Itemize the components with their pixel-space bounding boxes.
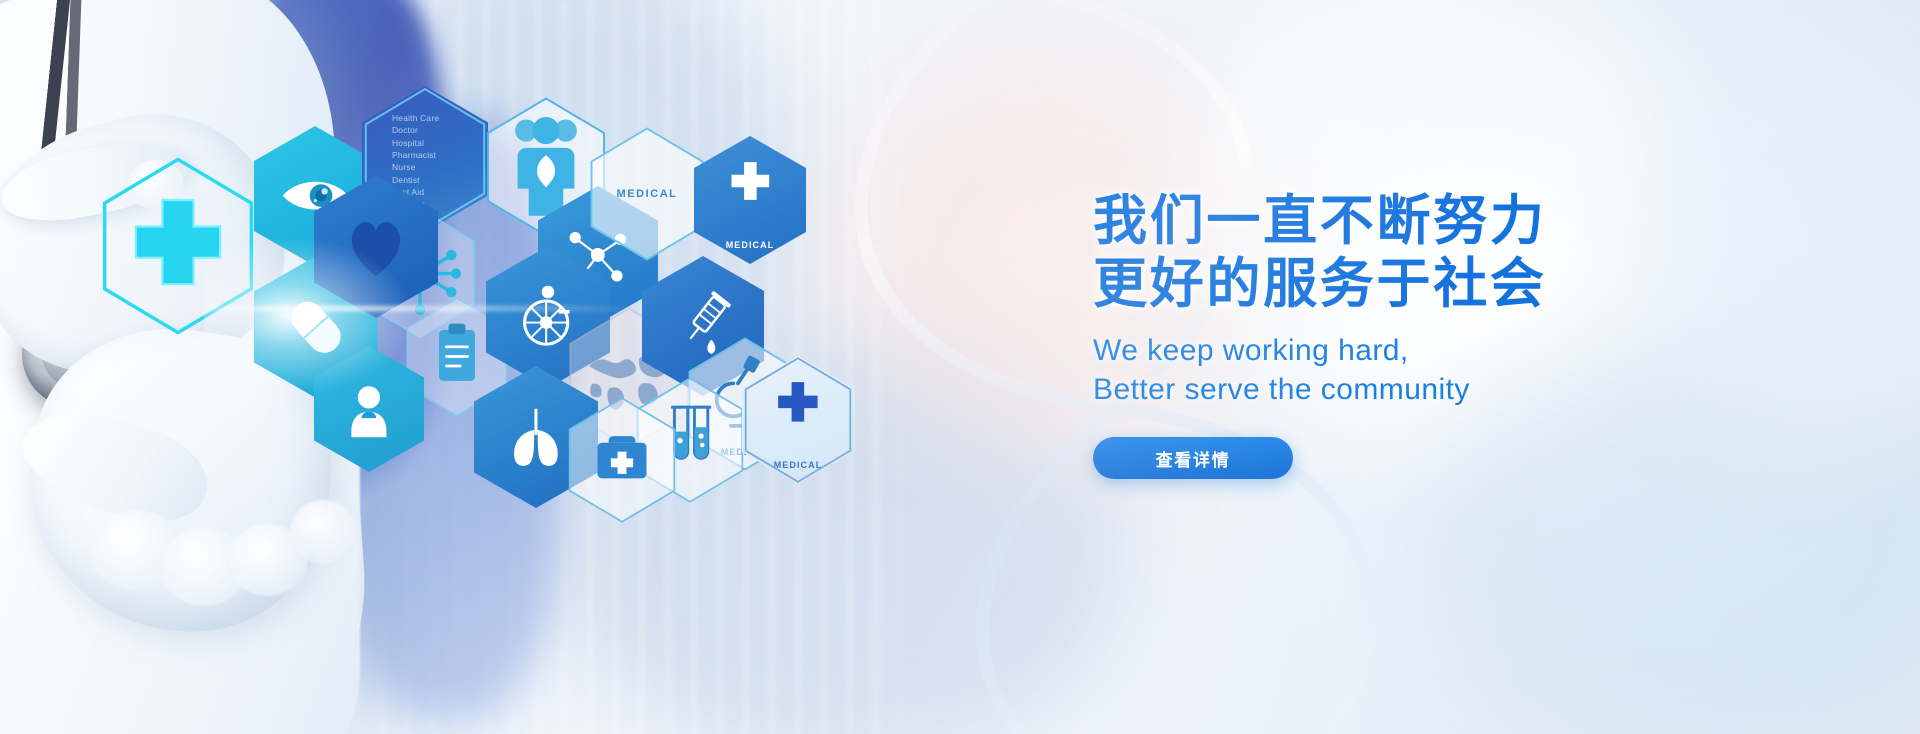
medical-cross-icon [100,156,256,336]
glove-knuckle [160,528,248,606]
pill-capsule-icon [280,286,352,368]
hex-cross-badge[interactable]: MEDICAL [694,136,806,264]
page-title-line-2: 更好的服务于社会 [1093,253,1793,316]
hero-copy-block: 我们一直不断努力 更好的服务于社会 We keep working hard, … [1093,190,1793,479]
cross-badge-icon [719,154,782,221]
user-avatar-icon [337,372,401,445]
healthcare-hero-banner: Health Care Doctor Hospital Pharmacist N… [0,0,1920,734]
hexlabel: MEDICAL [617,188,678,200]
heart-organ-icon [340,206,412,288]
glove-knuckle [228,524,308,596]
lungs-icon [500,396,572,478]
glove-knuckle [290,500,356,564]
view-details-button[interactable]: 查看详情 [1093,437,1293,479]
subtitle-line-2: Better serve the community [1093,370,1793,409]
glove-knuckle [90,510,182,590]
hexlabel: MEDICAL [694,240,806,250]
subtitle-line-1: We keep working hard, [1093,331,1793,370]
medical-icon-hexagon-cluster: Health Care Doctor Hospital Pharmacist N… [86,78,916,458]
page-title-line-1: 我们一直不断努力 [1093,190,1793,253]
hex-medical-cross[interactable] [100,156,256,336]
